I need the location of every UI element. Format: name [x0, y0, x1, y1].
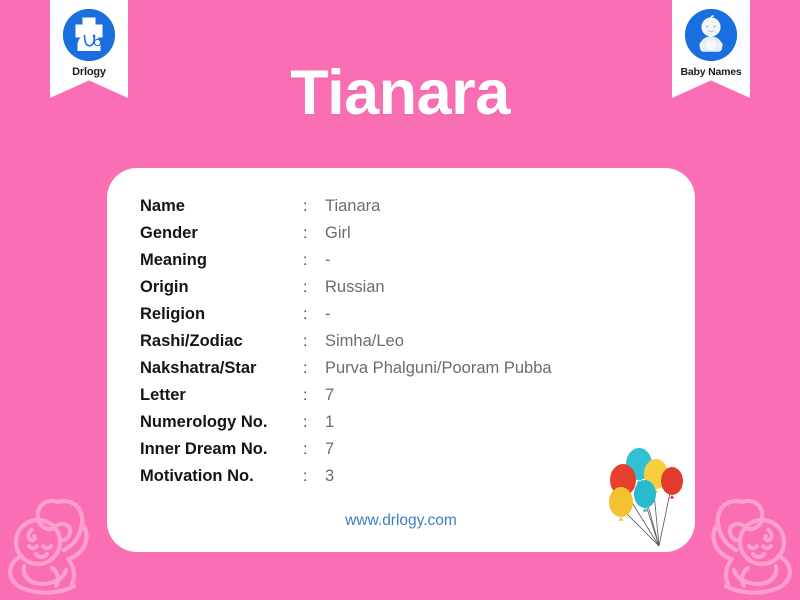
- row-label: Name: [140, 193, 303, 220]
- row-value: 7: [325, 382, 552, 409]
- row-value: -: [325, 247, 552, 274]
- table-row: Letter:7: [140, 382, 552, 409]
- table-row: Name:Tianara: [140, 193, 552, 220]
- row-label: Meaning: [140, 247, 303, 274]
- row-value: Girl: [325, 220, 552, 247]
- table-row: Inner Dream No.:7: [140, 436, 552, 463]
- row-label: Inner Dream No.: [140, 436, 303, 463]
- name-details-table: Name:TianaraGender:GirlMeaning:-Origin:R…: [140, 193, 552, 490]
- mother-baby-icon: [0, 480, 108, 600]
- corner-decoration-right: [692, 480, 800, 600]
- doctor-cross-icon: [63, 9, 115, 61]
- row-colon: :: [303, 193, 325, 220]
- row-value: 1: [325, 409, 552, 436]
- row-label: Religion: [140, 301, 303, 328]
- balloons-icon: [601, 442, 693, 552]
- baby-icon: [685, 9, 737, 61]
- row-colon: :: [303, 436, 325, 463]
- row-colon: :: [303, 274, 325, 301]
- row-label: Nakshatra/Star: [140, 355, 303, 382]
- table-row: Nakshatra/Star:Purva Phalguni/Pooram Pub…: [140, 355, 552, 382]
- row-label: Letter: [140, 382, 303, 409]
- row-colon: :: [303, 328, 325, 355]
- table-row: Rashi/Zodiac:Simha/Leo: [140, 328, 552, 355]
- corner-decoration-left: [0, 480, 108, 600]
- table-row: Motivation No.:3: [140, 463, 552, 490]
- row-value: Russian: [325, 274, 552, 301]
- row-colon: :: [303, 247, 325, 274]
- row-value: Purva Phalguni/Pooram Pubba: [325, 355, 552, 382]
- row-value: Simha/Leo: [325, 328, 552, 355]
- row-label: Rashi/Zodiac: [140, 328, 303, 355]
- row-colon: :: [303, 463, 325, 490]
- table-row: Religion:-: [140, 301, 552, 328]
- row-colon: :: [303, 355, 325, 382]
- table-row: Numerology No.:1: [140, 409, 552, 436]
- row-value: 3: [325, 463, 552, 490]
- row-colon: :: [303, 382, 325, 409]
- row-colon: :: [303, 301, 325, 328]
- table-body: Name:TianaraGender:GirlMeaning:-Origin:R…: [140, 193, 552, 490]
- row-label: Origin: [140, 274, 303, 301]
- row-value: Tianara: [325, 193, 552, 220]
- row-label: Gender: [140, 220, 303, 247]
- row-label: Motivation No.: [140, 463, 303, 490]
- row-value: -: [325, 301, 552, 328]
- row-value: 7: [325, 436, 552, 463]
- table-row: Meaning:-: [140, 247, 552, 274]
- name-details-card: Name:TianaraGender:GirlMeaning:-Origin:R…: [107, 168, 695, 552]
- row-colon: :: [303, 220, 325, 247]
- row-colon: :: [303, 409, 325, 436]
- website-url[interactable]: www.drlogy.com: [107, 512, 695, 530]
- table-row: Gender:Girl: [140, 220, 552, 247]
- mother-baby-icon: [692, 480, 800, 600]
- table-row: Origin:Russian: [140, 274, 552, 301]
- page-title: Tianara: [0, 62, 800, 125]
- row-label: Numerology No.: [140, 409, 303, 436]
